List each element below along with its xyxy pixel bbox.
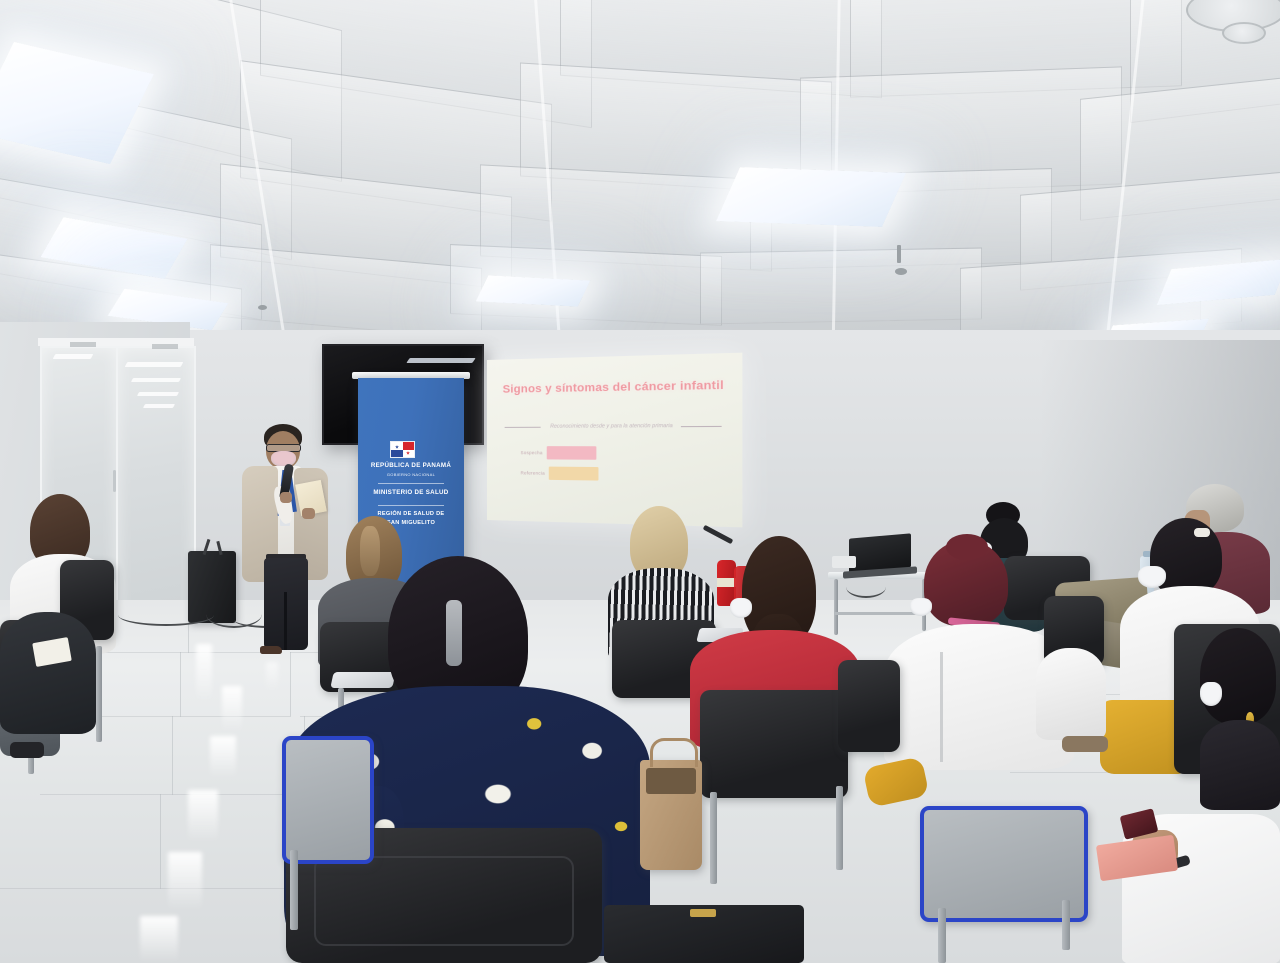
audience-person: [0, 612, 96, 812]
chair-leg: [96, 646, 102, 742]
door-handle[interactable]: [113, 470, 116, 492]
hair-tie: [1194, 528, 1210, 537]
briefcase-clasp: [690, 909, 716, 917]
briefcase: [604, 905, 804, 963]
presenter-shoe: [260, 646, 282, 654]
chair-seam: [314, 856, 574, 946]
chair-leg: [1062, 900, 1070, 950]
smoke-detector-icon: [895, 268, 907, 275]
presenter-hand: [280, 492, 292, 503]
ceiling-vent-icon: [1222, 22, 1266, 44]
face-mask: [730, 598, 752, 618]
suspended-ceiling: [0, 0, 1280, 372]
projection-screen: Signos y síntomas del cáncer infantil Re…: [487, 353, 742, 528]
banner-line-2: GOBIERNO NACIONAL: [358, 472, 464, 477]
banner-line-1: REPÚBLICA DE PANAMÁ: [358, 462, 464, 469]
banner-divider: [378, 483, 444, 484]
slide-title: Signos y síntomas del cáncer infantil: [495, 379, 733, 397]
ceiling-light-panel: [476, 275, 591, 306]
chair: [700, 690, 848, 798]
slide-row-swatch: [547, 446, 597, 460]
hair-clip-icon: [446, 600, 462, 666]
slide-row-label: Referencia: [521, 470, 545, 475]
chair-leg: [938, 908, 946, 963]
slide-row: Sospecha: [521, 446, 597, 460]
conference-room-photo: Signos y síntomas del cáncer infantil Re…: [0, 0, 1280, 963]
torso: [1036, 648, 1106, 740]
glass-door-right[interactable]: [116, 346, 196, 622]
audience-person: [1200, 628, 1280, 808]
slide-row-label: Sospecha: [521, 450, 543, 455]
presenter-hand: [302, 508, 315, 519]
chair-leg: [290, 850, 298, 930]
torso: [0, 612, 96, 734]
hair-bun: [946, 534, 988, 560]
chair-blue-foreground: [282, 736, 374, 864]
audience-person: [1122, 796, 1280, 963]
tote-bag: [640, 760, 702, 870]
slide-row: Referencia: [521, 466, 599, 480]
banner-divider: [378, 505, 444, 506]
chair: [838, 660, 900, 752]
face-mask: [1138, 566, 1166, 588]
tote-inner: [646, 768, 696, 794]
power-cable: [118, 604, 214, 626]
presenter-leg-split: [284, 592, 287, 650]
chair-leg: [836, 786, 843, 870]
panama-flag-icon: [390, 441, 415, 458]
door-header-light: [70, 342, 96, 347]
banner-line-3: MINISTERIO DE SALUD: [358, 489, 464, 496]
slide-row-swatch: [549, 467, 599, 481]
hair: [1200, 628, 1276, 724]
slide-subtitle: Reconocimiento desde y para la atención …: [503, 423, 727, 430]
coat-seam: [940, 652, 943, 762]
door-header-light: [152, 344, 178, 349]
audience-person: [1036, 648, 1106, 740]
face-mask: [910, 598, 932, 616]
shoe: [1062, 736, 1108, 752]
face-mask: [1200, 682, 1222, 706]
smoke-detector-icon: [258, 305, 267, 310]
chair-leg: [710, 792, 717, 884]
ceiling-light-panel: [716, 167, 906, 227]
sprinkler-icon: [897, 245, 901, 263]
tote-handle: [650, 738, 698, 767]
